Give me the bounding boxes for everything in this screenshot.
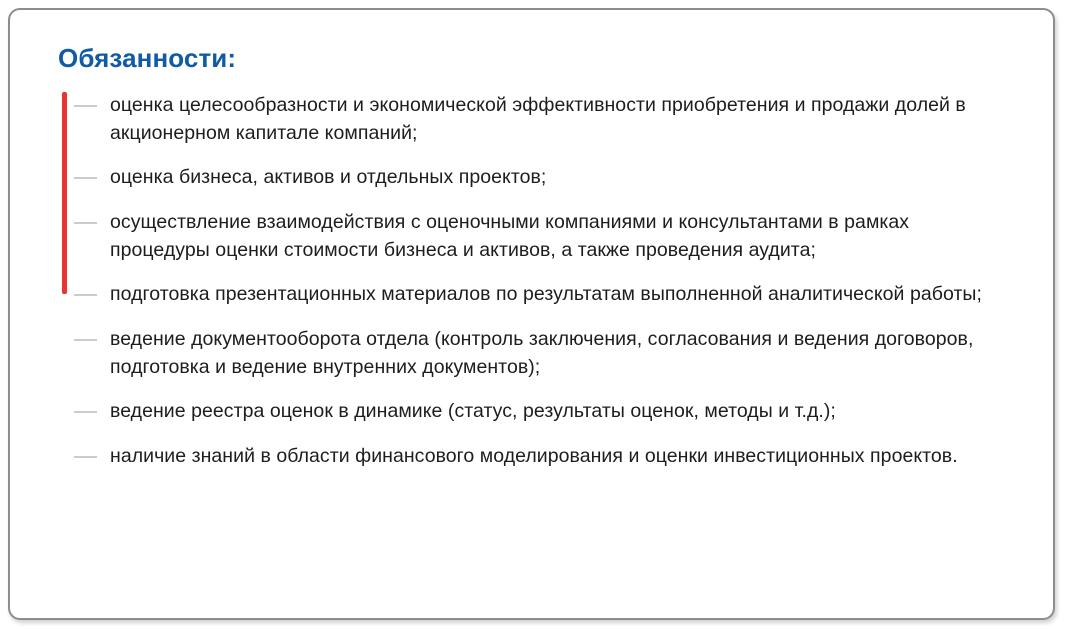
list-item-text: оценка бизнеса, активов и отдельных прое…: [110, 164, 1013, 192]
list-item-text: осуществление взаимодействия с оценочным…: [110, 209, 1013, 264]
list-item-text: подготовка презентационных материалов по…: [110, 281, 1013, 309]
list-item-text: ведение документооборота отдела (контрол…: [110, 326, 1013, 381]
page-root: Обязанности: оценка целесообразности и э…: [0, 0, 1069, 629]
duties-card: Обязанности: оценка целесообразности и э…: [8, 8, 1055, 620]
list-item: осуществление взаимодействия с оценочным…: [58, 209, 1013, 264]
dash-icon: [74, 177, 97, 179]
dash-icon: [74, 456, 97, 458]
duties-section: оценка целесообразности и экономической …: [58, 92, 1013, 471]
list-item: ведение реестра оценок в динамике (стату…: [58, 398, 1013, 426]
dash-icon: [74, 411, 97, 413]
dash-icon: [74, 105, 97, 107]
list-item-text: оценка целесообразности и экономической …: [110, 92, 1013, 147]
list-item: подготовка презентационных материалов по…: [58, 281, 1013, 309]
duties-list: оценка целесообразности и экономической …: [58, 92, 1013, 471]
dash-icon: [74, 294, 97, 296]
list-item: ведение документооборота отдела (контрол…: [58, 326, 1013, 381]
list-item: наличие знаний в области финансового мод…: [58, 443, 1013, 471]
list-item: оценка целесообразности и экономической …: [58, 92, 1013, 147]
list-item-text: ведение реестра оценок в динамике (стату…: [110, 398, 1013, 426]
dash-icon: [74, 339, 97, 341]
list-item-text: наличие знаний в области финансового мод…: [110, 443, 1013, 471]
card-content: Обязанности: оценка целесообразности и э…: [58, 44, 1013, 471]
dash-icon: [74, 222, 97, 224]
page-title: Обязанности:: [58, 44, 1013, 74]
list-item: оценка бизнеса, активов и отдельных прое…: [58, 164, 1013, 192]
